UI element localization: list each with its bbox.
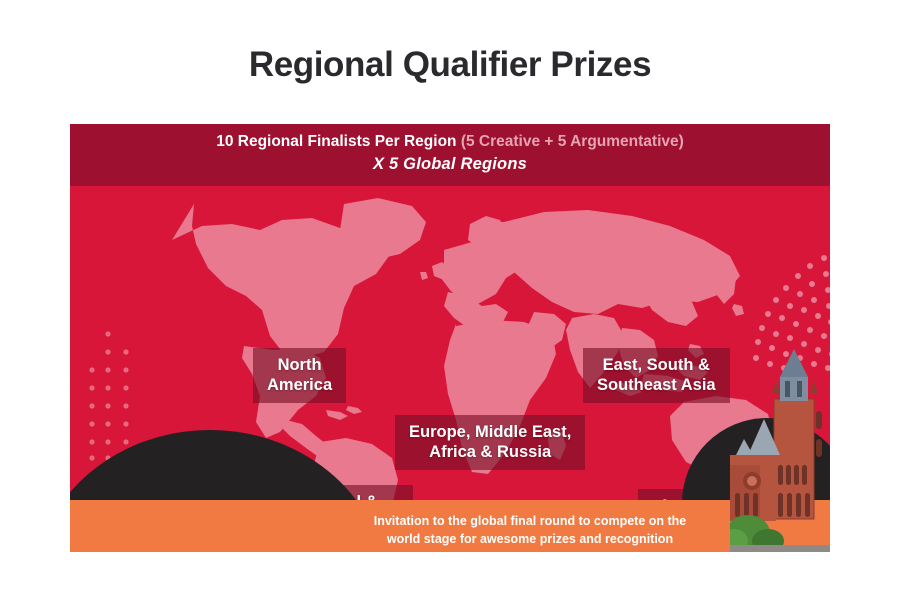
prize-card: 10 Regional Finalists Per Region (5 Crea… (70, 124, 830, 552)
page-title: Regional Qualifier Prizes (0, 45, 900, 85)
gothic-hall-building-illustration (730, 347, 830, 552)
card-header: 10 Regional Finalists Per Region (5 Crea… (70, 124, 830, 186)
poster-page: Regional Qualifier Prizes 10 Regional Fi… (0, 0, 900, 590)
region-label-north-america[interactable]: North America (253, 348, 346, 403)
region-label-europe-middle-east-africa-russia[interactable]: Europe, Middle East, Africa & Russia (395, 415, 585, 470)
footer-bar-text: Invitation to the global final round to … (320, 512, 740, 548)
header-line-1-sub: (5 Creative + 5 Argumentative) (461, 133, 684, 150)
header-line-1-main: 10 Regional Finalists Per Region (216, 133, 461, 150)
header-line-1: 10 Regional Finalists Per Region (5 Crea… (70, 131, 830, 153)
region-label-east-south-southeast-asia[interactable]: East, South & Southeast Asia (583, 348, 730, 403)
header-line-2: X 5 Global Regions (70, 153, 830, 175)
